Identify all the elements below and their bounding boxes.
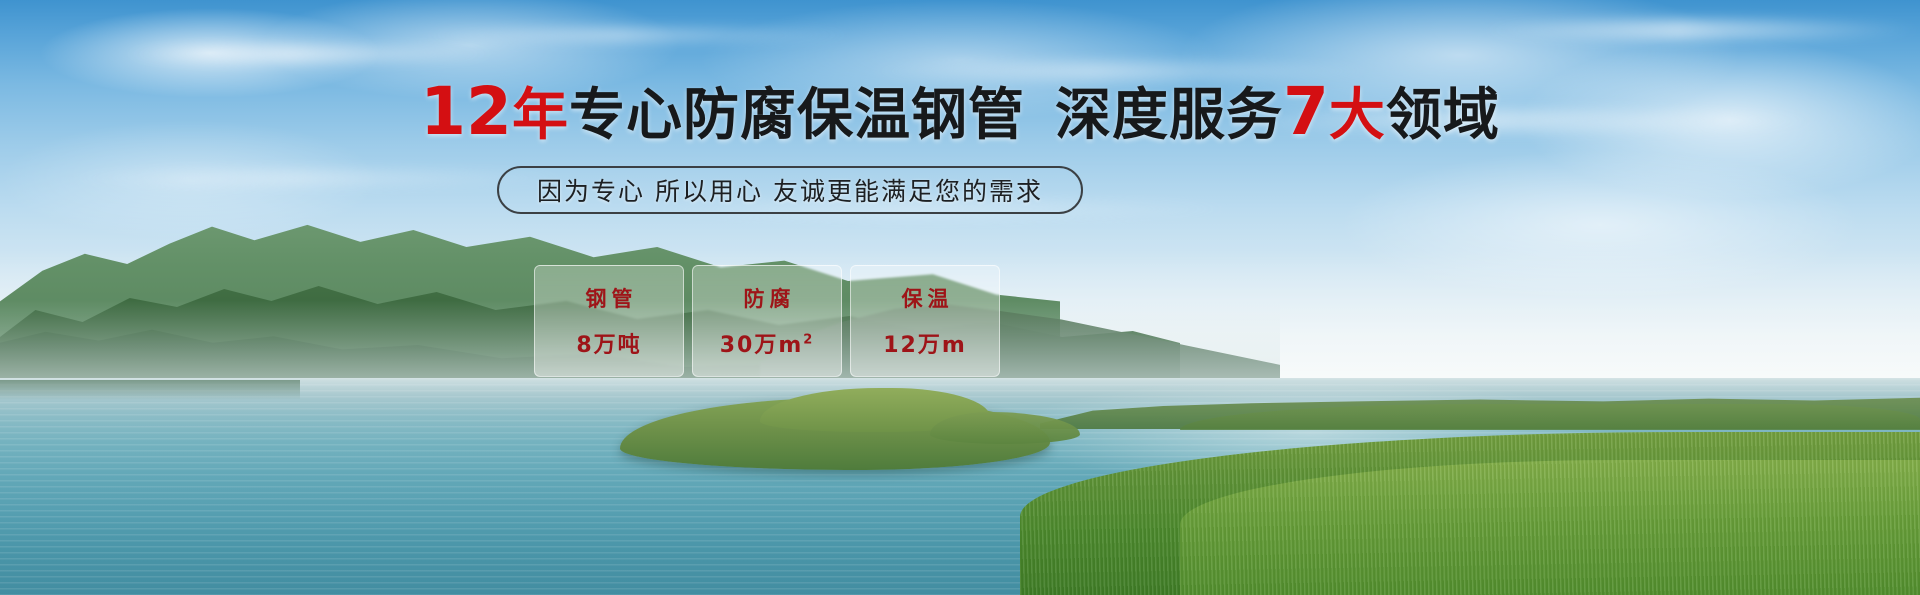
stat-card-steel-pipe[interactable]: 钢管 8万吨	[534, 265, 684, 377]
headline-service-text: 深度服务	[1055, 83, 1283, 148]
subtitle-pill: 因为专心 所以用心 友诚更能满足您的需求	[497, 166, 1083, 214]
headline-fields-text: 领域	[1386, 83, 1500, 148]
subtitle-text: 因为专心 所以用心 友诚更能满足您的需求	[537, 172, 1043, 208]
stat-card-group: 钢管 8万吨 防腐 30万m2 保温 12万m	[534, 265, 1000, 377]
headline-years-unit: 年	[512, 83, 569, 148]
headline-main-text: 专心防腐保温钢管	[569, 83, 1025, 148]
stat-card-anticorrosion[interactable]: 防腐 30万m2	[692, 265, 842, 377]
stat-value-main: 8万吨	[576, 333, 641, 358]
banner-headline: 12年专心防腐保温钢管深度服务7大领域	[0, 82, 1920, 146]
stat-card-value: 30万m2	[720, 327, 815, 359]
stat-card-value: 8万吨	[576, 327, 641, 359]
headline-years-number: 12	[420, 73, 512, 150]
stat-value-main: 12万m	[883, 333, 967, 358]
stat-card-title: 防腐	[739, 283, 796, 313]
stat-card-value: 12万m	[883, 327, 967, 359]
stat-card-title: 保温	[897, 283, 954, 313]
stat-card-insulation[interactable]: 保温 12万m	[850, 265, 1000, 377]
headline-fields-number: 7	[1283, 73, 1329, 150]
stat-value-main: 30万m	[720, 333, 804, 358]
stat-card-title: 钢管	[581, 283, 638, 313]
hero-banner: 12年专心防腐保温钢管深度服务7大领域 因为专心 所以用心 友诚更能满足您的需求…	[0, 0, 1920, 595]
stat-value-superscript: 2	[803, 333, 814, 348]
headline-fields-unit: 大	[1329, 83, 1386, 148]
